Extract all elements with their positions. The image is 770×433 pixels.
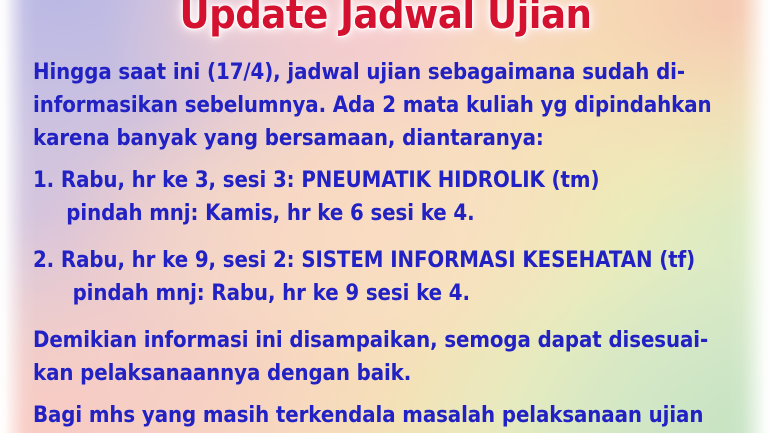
footer-line-1: Bagi mhs yang masih terkendala masalah p… — [33, 399, 684, 432]
closing-paragraph: Demikian informasi ini disampaikan, semo… — [33, 324, 756, 390]
poster-body: Hingga saat ini (17/4), jadwal ujian seb… — [33, 56, 756, 433]
list-item-2-sub: pindah mnj: Rabu, hr ke 9 sesi ke 4. — [33, 277, 684, 310]
list-item: 2. Rabu, hr ke 9, sesi 2: SISTEM INFORMA… — [33, 244, 756, 310]
list-item-1-main: 1. Rabu, hr ke 3, sesi 3: PNEUMATIK HIDR… — [33, 164, 684, 197]
closing-line-2: kan pelaksanaannya dengan baik. — [33, 357, 684, 390]
intro-line-2: informasikan sebelumnya. Ada 2 mata kuli… — [33, 89, 684, 122]
list-item-2-main: 2. Rabu, hr ke 9, sesi 2: SISTEM INFORMA… — [33, 244, 684, 277]
spacer-between-list-items — [33, 236, 756, 244]
footer-paragraph: Bagi mhs yang masih terkendala masalah p… — [33, 399, 756, 432]
poster-content: Update Jadwal Ujian Hingga saat ini (17/… — [0, 0, 770, 433]
intro-line-3: karena banyak yang bersamaan, diantarany… — [33, 122, 684, 155]
announcement-poster: Update Jadwal Ujian Hingga saat ini (17/… — [0, 0, 770, 433]
title-area: Update Jadwal Ujian — [0, 0, 770, 43]
list-item: 1. Rabu, hr ke 3, sesi 3: PNEUMATIK HIDR… — [33, 164, 756, 230]
list-item-1-sub: pindah mnj: Kamis, hr ke 6 sesi ke 4. — [33, 197, 684, 230]
intro-paragraph: Hingga saat ini (17/4), jadwal ujian seb… — [33, 56, 756, 155]
intro-line-1: Hingga saat ini (17/4), jadwal ujian seb… — [33, 56, 684, 89]
closing-line-1: Demikian informasi ini disampaikan, semo… — [33, 324, 684, 357]
spacer-before-closing — [33, 316, 756, 324]
page-title: Update Jadwal Ujian — [179, 0, 591, 39]
